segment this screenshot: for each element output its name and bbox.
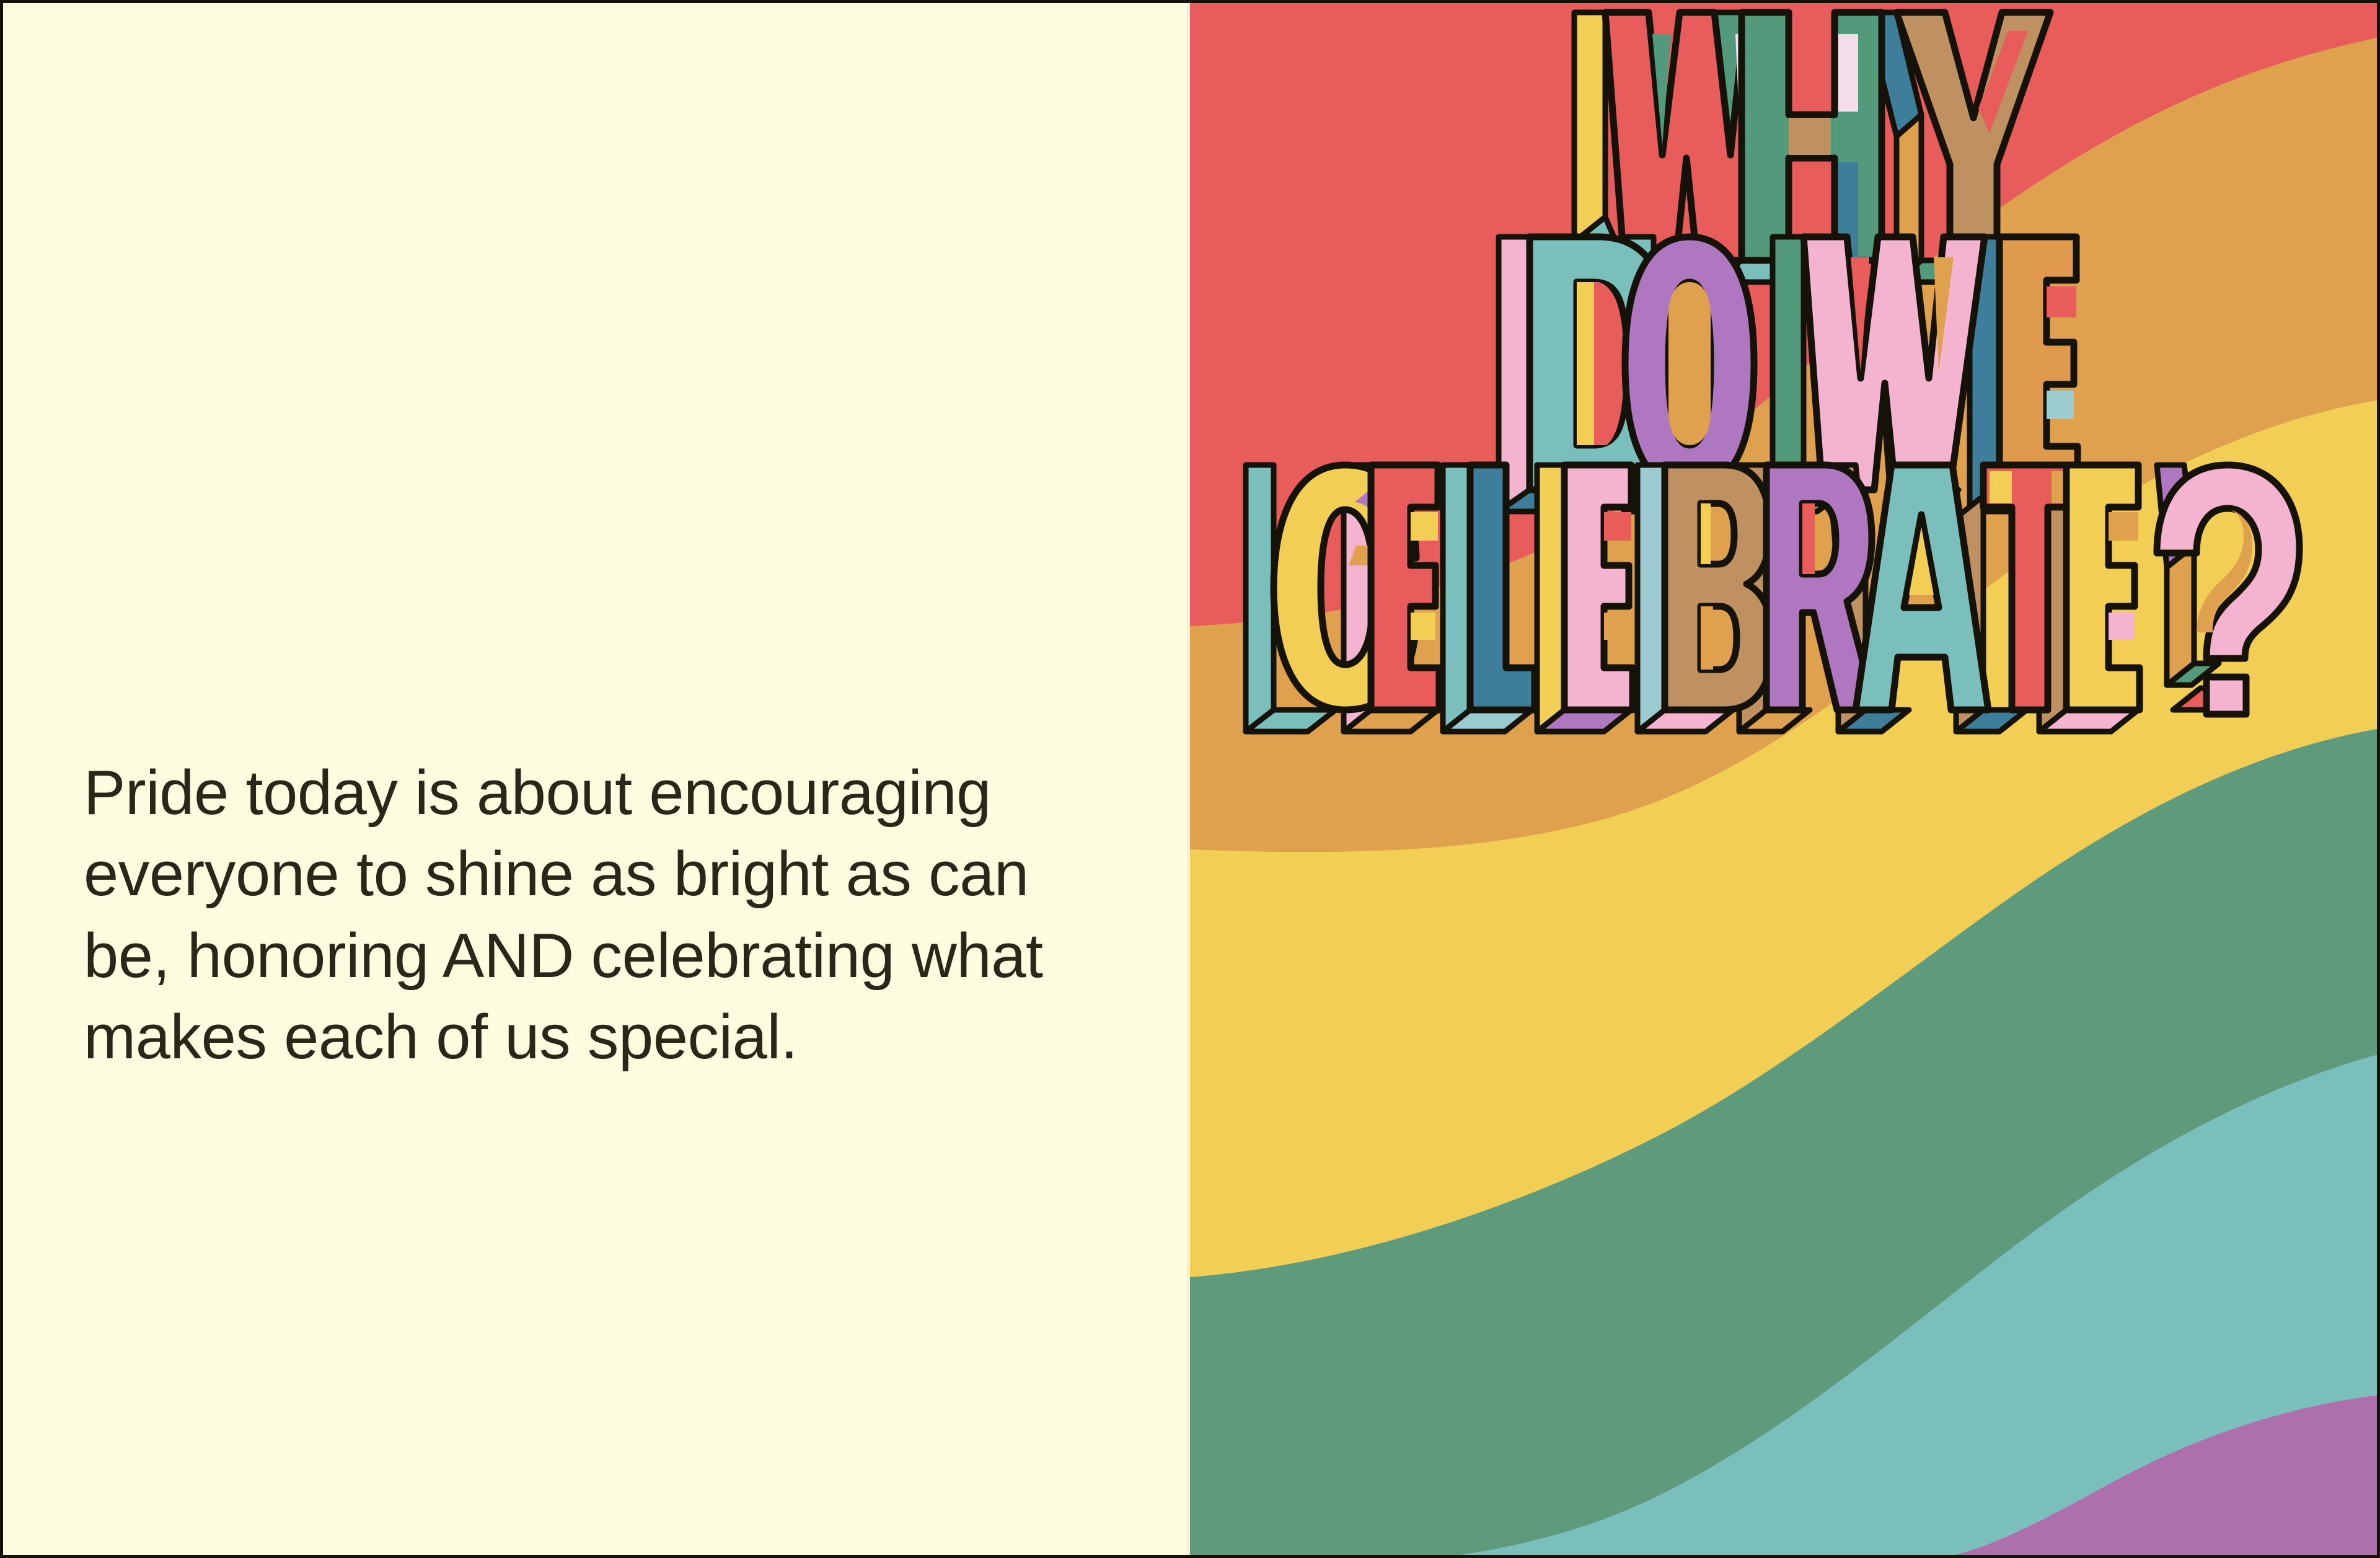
body-paragraph: Pride today is about encouraging everyon… <box>84 753 1082 1078</box>
page-gutter <box>1187 0 1190 1558</box>
right-page <box>1190 0 2380 1558</box>
pride-book-spread: Pride today is about encouraging everyon… <box>0 0 2380 1558</box>
rainbow-wave-bands <box>1190 0 2380 1558</box>
left-page: Pride today is about encouraging everyon… <box>0 0 1190 1558</box>
